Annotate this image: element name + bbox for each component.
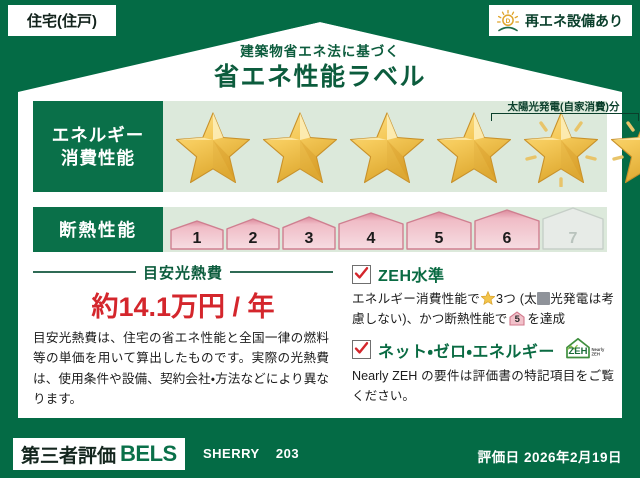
energy-consumption-header: エネルギー 消費性能 bbox=[33, 101, 163, 192]
bels-certification-box: 第三者評価 BELS bbox=[13, 438, 185, 470]
utility-cost-heading-label: 目安光熱費 bbox=[143, 262, 223, 283]
insulation-header: 断熱性能 bbox=[33, 207, 163, 252]
energy-consumption-label-line1: エネルギー bbox=[52, 124, 145, 146]
building-name: SHERRY bbox=[203, 446, 259, 461]
dwelling-type-label: 住宅(住戸) bbox=[27, 10, 97, 31]
rule-right bbox=[230, 271, 333, 273]
svg-text:D: D bbox=[506, 18, 511, 25]
renewable-equipment-badge: D 再エネ設備あり bbox=[489, 5, 632, 36]
utility-cost-heading: 目安光熱費 bbox=[33, 264, 333, 280]
insulation-grade-achieved: 4 bbox=[338, 212, 404, 250]
zeh-standard-checkbox[interactable] bbox=[352, 265, 371, 284]
zeh-net-zero-checkbox[interactable] bbox=[352, 340, 371, 359]
renewable-equipment-label: 再エネ設備あり bbox=[525, 11, 623, 31]
grade-number: 2 bbox=[249, 230, 258, 248]
inline-grade-value: 5 bbox=[509, 312, 525, 327]
svg-text:ZEH: ZEH bbox=[568, 346, 587, 357]
grade-number: 7 bbox=[569, 230, 578, 248]
check-icon bbox=[354, 341, 369, 356]
sun-icon: D bbox=[495, 9, 521, 33]
evaluation-date: 評価日 2026年2月19日 bbox=[478, 446, 622, 466]
solar-contribution-bracket bbox=[491, 113, 639, 121]
star-icon bbox=[345, 107, 429, 187]
grade-number: 6 bbox=[503, 230, 512, 248]
energy-performance-label: 住宅(住戸) D 再エネ設備あり 建築物省エネ法に基づく 省エネ性能ラベル エネ… bbox=[0, 0, 640, 478]
evaluation-date-label: 評価日 bbox=[478, 450, 520, 465]
zeh-standard-title: ZEH水準 bbox=[378, 262, 445, 286]
insulation-grade-achieved: 5 bbox=[406, 211, 472, 250]
label-title: 省エネ性能ラベル bbox=[0, 57, 640, 93]
third-party-eval-label: 第三者評価 bbox=[21, 441, 116, 468]
star-filled bbox=[345, 107, 429, 187]
energy-consumption-row: エネルギー 消費性能 太陽光発電(自家消費)分 bbox=[33, 101, 607, 192]
utility-cost-value: 約14.1万円 / 年 bbox=[33, 285, 333, 324]
grade-number: 5 bbox=[435, 230, 444, 248]
zeh-standard-text-1: エネルギー消費性能で bbox=[352, 292, 480, 306]
svg-text:ZEH: ZEH bbox=[591, 351, 599, 356]
zeh-standard-body: エネルギー消費性能で3つ (太光発電は考慮しない)、かつ断熱性能で5を達成 bbox=[352, 289, 614, 330]
zeh-item-standard: ZEH水準 エネルギー消費性能で3つ (太光発電は考慮しない)、かつ断熱性能で5… bbox=[352, 262, 614, 330]
redacted-character bbox=[537, 292, 550, 305]
rule-left bbox=[33, 271, 136, 273]
solar-contribution-note: 太陽光発電(自家消費)分 bbox=[486, 99, 640, 114]
bels-logo-text: BELS bbox=[120, 441, 177, 467]
dwelling-type-tag: 住宅(住戸) bbox=[8, 5, 116, 36]
label-footer: 第三者評価 BELS SHERRY 203 評価日 2026年2月19日 bbox=[0, 432, 640, 478]
star-filled bbox=[258, 107, 342, 187]
zeh-item-net-zero: ネット・ゼロ・エネルギー ZEH Nearly ZEH Nearly ZEH の… bbox=[352, 337, 614, 407]
grade-number: 4 bbox=[367, 230, 376, 248]
star-icon bbox=[171, 107, 255, 187]
insulation-grade-achieved: 1 bbox=[170, 220, 224, 250]
star-filled bbox=[171, 107, 255, 187]
insulation-grade-scale: 1234567 bbox=[163, 207, 607, 252]
star-icon bbox=[258, 107, 342, 187]
zeh-net-zero-body: Nearly ZEH の要件は評価書の特記項目をご覧ください。 bbox=[352, 366, 614, 407]
zeh-standard-text-2: 3つ (太 bbox=[496, 292, 537, 306]
inline-star-icon bbox=[481, 291, 495, 305]
inline-grade-badge: 5 bbox=[509, 311, 525, 326]
insulation-grade-achieved: 2 bbox=[226, 218, 280, 250]
utility-cost-note: 目安光熱費は、住宅の省エネ性能と全国一律の燃料等の単価を用いて算出したものです。… bbox=[33, 328, 329, 410]
insulation-grade-achieved: 3 bbox=[282, 216, 336, 250]
grade-number: 1 bbox=[193, 230, 202, 248]
zeh-criteria-block: ZEH水準 エネルギー消費性能で3つ (太光発電は考慮しない)、かつ断熱性能で5… bbox=[352, 262, 614, 414]
insulation-grade-achieved: 6 bbox=[474, 209, 540, 250]
insulation-row: 断熱性能 1234567 bbox=[33, 207, 607, 252]
building-identifier: SHERRY 203 bbox=[203, 446, 299, 461]
zeh-standard-text-4: を達成 bbox=[527, 312, 565, 326]
zeh-standard-title-row: ZEH水準 bbox=[352, 262, 614, 286]
insulation-grade-empty: 7 bbox=[542, 207, 604, 250]
grade-number: 3 bbox=[305, 230, 314, 248]
evaluation-date-value: 2026年2月19日 bbox=[524, 450, 622, 465]
insulation-label: 断熱性能 bbox=[59, 217, 137, 242]
unit-number: 203 bbox=[276, 446, 299, 461]
energy-consumption-label-line2: 消費性能 bbox=[61, 147, 135, 169]
zeh-house-logo-icon: ZEH Nearly ZEH bbox=[565, 337, 605, 363]
check-icon bbox=[354, 266, 369, 281]
zeh-net-zero-title-row: ネット・ゼロ・エネルギー ZEH Nearly ZEH bbox=[352, 337, 614, 363]
zeh-net-zero-title: ネット・ゼロ・エネルギー bbox=[378, 338, 555, 362]
